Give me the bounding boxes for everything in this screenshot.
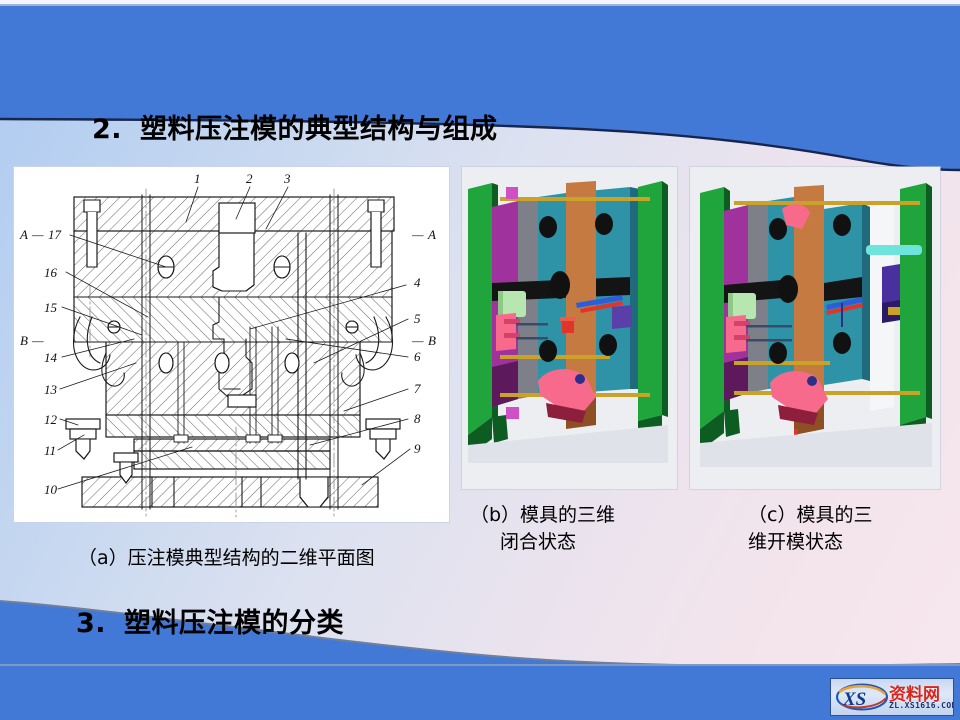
- section-3-text: 塑料压注模的分类: [124, 608, 344, 639]
- drawing-label-5: 5: [414, 311, 421, 326]
- watermark-site-url: ZL.XS1616.COM: [889, 701, 954, 710]
- section-2-number: 2.: [92, 114, 122, 145]
- mold-section-drawing: 1 2 3 A — 17 16 15 B — 14 13 12 11 10 — …: [14, 167, 449, 522]
- drawing-label-6: 6: [414, 349, 421, 364]
- drawing-label-11: 11: [44, 443, 56, 458]
- drawing-label-13: 13: [44, 382, 58, 397]
- drawing-label-16: 16: [44, 265, 58, 280]
- watermark-logo: XS 资料网 ZL.XS1616.COM: [830, 678, 954, 716]
- drawing-label-3: 3: [283, 171, 291, 186]
- drawing-label-12: 12: [44, 412, 58, 427]
- drawing-label-B-dash: —: [31, 333, 44, 348]
- drawing-label-17: 17: [48, 227, 62, 242]
- drawing-label-A-dash: —: [31, 227, 44, 242]
- section-3-number: 3.: [76, 608, 106, 639]
- drawing-label-A-right: A: [427, 227, 436, 242]
- page-title-section-3: 3.塑料压注模的分类: [76, 601, 344, 640]
- figure-c-caption-line2: 维开模状态: [748, 529, 948, 556]
- figure-b-3d-closed: [462, 167, 677, 489]
- page-title-section-2: 2.塑料压注模的典型结构与组成: [92, 107, 498, 146]
- figure-a-2d-drawing: 1 2 3 A — 17 16 15 B — 14 13 12 11 10 — …: [13, 166, 450, 523]
- drawing-label-2: 2: [246, 171, 253, 186]
- drawing-label-B-right-dash: —: [411, 333, 424, 348]
- top-divider-line: [0, 4, 960, 6]
- drawing-label-9: 9: [414, 441, 421, 456]
- drawing-label-15: 15: [44, 300, 58, 315]
- figure-a-caption: （a）压注模典型结构的二维平面图: [78, 545, 375, 572]
- drawing-label-4: 4: [414, 275, 421, 290]
- figure-c-caption-line1: （c）模具的三: [748, 504, 872, 526]
- presentation-slide: 2.塑料压注模的典型结构与组成 3.塑料压注模的分类: [0, 0, 960, 720]
- figure-c-3d-open: [690, 167, 940, 489]
- drawing-label-10: 10: [44, 482, 58, 497]
- xs-monogram-text: XS: [842, 689, 866, 710]
- xs-monogram-icon: XS: [835, 682, 889, 712]
- drawing-label-A-right-dash: —: [411, 227, 424, 242]
- drawing-label-B-right: B: [428, 333, 436, 348]
- drawing-label-1: 1: [194, 171, 201, 186]
- figure-b-caption-line2: 闭合状态: [470, 529, 680, 556]
- drawing-label-14: 14: [44, 350, 58, 365]
- section-2-text: 塑料压注模的典型结构与组成: [140, 114, 498, 145]
- drawing-label-7: 7: [414, 381, 421, 396]
- drawing-label-B-left: B: [20, 333, 28, 348]
- mold-3d-closed-render: [462, 167, 677, 489]
- drawing-label-A-left: A: [19, 227, 28, 242]
- mold-3d-open-render: [690, 167, 940, 489]
- figure-b-caption-line1: （b）模具的三维: [470, 504, 615, 526]
- drawing-label-8: 8: [414, 411, 421, 426]
- bottom-blue-band: [0, 666, 960, 720]
- figure-c-caption: （c）模具的三 维开模状态: [748, 502, 948, 556]
- figure-b-caption: （b）模具的三维 闭合状态: [470, 502, 680, 556]
